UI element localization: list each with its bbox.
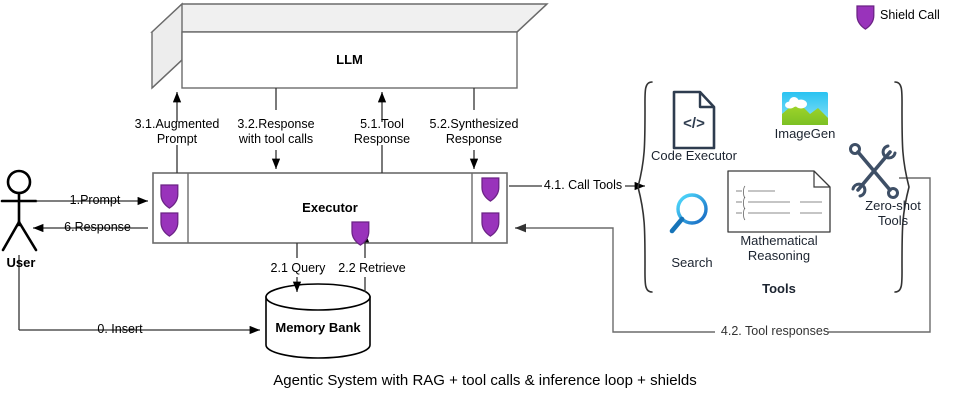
edge-label-retrieve: 2.2 Retrieve: [330, 261, 414, 275]
tools-group-label: Tools: [727, 281, 831, 296]
math-document-icon: [728, 171, 830, 232]
edge-label-augmented-prompt-line2: Prompt: [129, 132, 225, 146]
edge-label-tool-response-line1: 5.1.Tool: [339, 117, 425, 131]
edge-label-query: 2.1 Query: [262, 261, 334, 275]
tool-label-zeroshot-line2: Tools: [839, 213, 947, 228]
llm-label: LLM: [182, 52, 517, 67]
shield-icon-legend: [857, 6, 874, 29]
edge-label-insert: 0. Insert: [80, 322, 160, 336]
llm-node-shape: [152, 4, 547, 88]
tool-label-math-line2: Reasoning: [727, 248, 831, 263]
code-document-icon: </>: [674, 92, 714, 148]
edge-label-augmented-prompt-line1: 3.1.Augmented: [129, 117, 225, 131]
tool-label-imagegen: ImageGen: [765, 126, 845, 141]
edge-label-synthesized-line2: Response: [420, 132, 528, 146]
legend-label: Shield Call: [880, 8, 964, 22]
tool-label-zeroshot-line1: Zero-shot: [839, 198, 947, 213]
svg-text:</>: </>: [683, 115, 705, 132]
diagram-caption: Agentic System with RAG + tool calls & i…: [0, 372, 970, 389]
crossed-wrenches-icon: [851, 145, 898, 198]
user-figure: [2, 171, 36, 250]
memory-bank-label: Memory Bank: [266, 320, 370, 335]
tool-label-math-line1: Mathematical: [727, 233, 831, 248]
edge-label-call-tools: 4.1. Call Tools: [537, 178, 629, 192]
edge-label-tool-calls-line1: 3.2.Response: [228, 117, 324, 131]
executor-label: Executor: [188, 200, 472, 215]
tool-label-search: Search: [660, 255, 724, 270]
edge-label-tool-responses: 4.2. Tool responses: [719, 324, 831, 338]
magnifier-icon: [672, 195, 706, 231]
edge-label-response: 6.Response: [55, 220, 140, 234]
user-label: User: [0, 256, 42, 270]
image-gen-icon: [782, 92, 828, 125]
edge-label-tool-response-line2: Response: [339, 132, 425, 146]
edge-label-synthesized-line1: 5.2.Synthesized: [420, 117, 528, 131]
edge-label-prompt: 1.Prompt: [60, 193, 130, 207]
edge-label-tool-calls-line2: with tool calls: [226, 132, 326, 146]
edge-insert: [19, 255, 260, 330]
tool-label-code-executor: Code Executor: [644, 148, 744, 163]
